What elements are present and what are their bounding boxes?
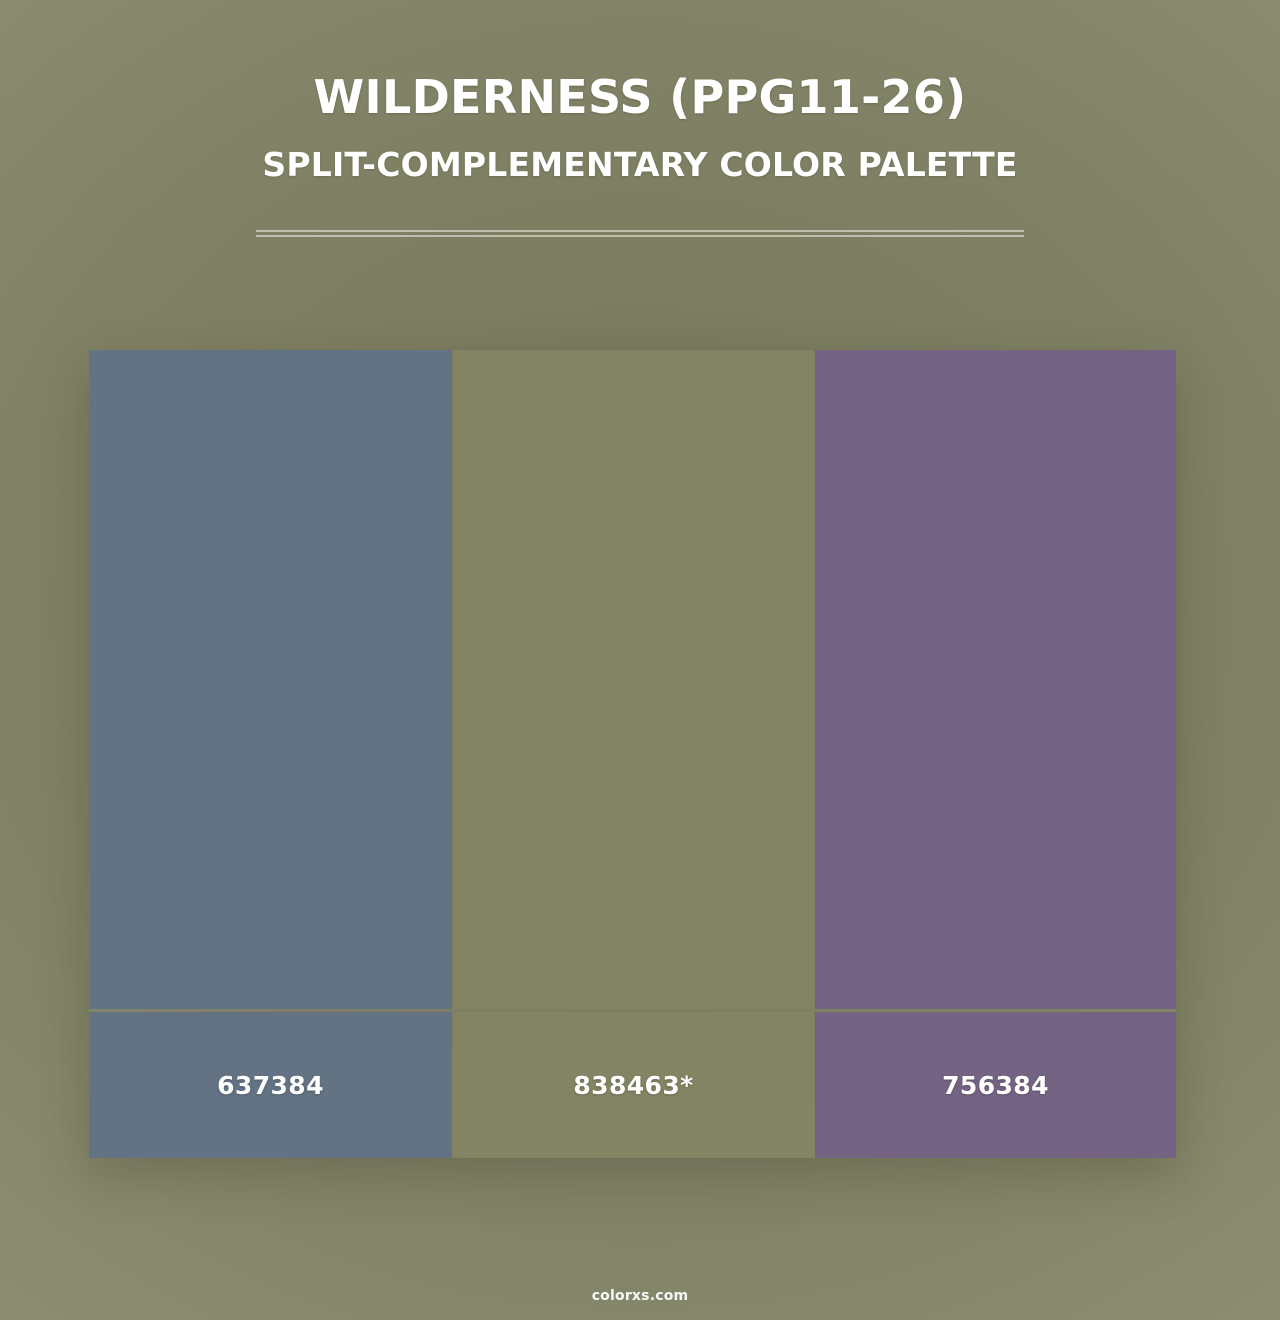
swatch-label-box: 756384 [815,1012,1176,1158]
site-footer: colorxs.com [0,1285,1280,1304]
swatch-hex-label: 637384 [217,1071,324,1100]
page-header: WILDERNESS (PPG11-26) SPLIT-COMPLEMENTAR… [0,0,1280,181]
swatch-column[interactable]: 637384 [89,350,452,1158]
divider-line-bottom [256,235,1024,237]
swatch-column[interactable]: 756384 [815,350,1176,1158]
color-palette-block: 637384 838463* 756384 [89,350,1176,1158]
site-footer-label[interactable]: colorxs.com [592,1288,689,1304]
divider-line-top [256,230,1024,232]
palette-page: WILDERNESS (PPG11-26) SPLIT-COMPLEMENTAR… [0,0,1280,1320]
color-swatch[interactable] [89,350,452,1009]
swatch-label-box: 838463* [453,1012,814,1158]
color-swatch[interactable] [815,350,1176,1009]
color-swatch[interactable] [453,350,814,1009]
swatch-hex-label: 838463* [573,1071,693,1100]
swatch-label-box: 637384 [89,1012,452,1158]
page-subtitle: SPLIT-COMPLEMENTARY COLOR PALETTE [0,120,1280,181]
title-divider [256,230,1024,238]
page-title: WILDERNESS (PPG11-26) [0,0,1280,120]
swatch-column[interactable]: 838463* [453,350,814,1158]
swatch-hex-label: 756384 [942,1071,1049,1100]
